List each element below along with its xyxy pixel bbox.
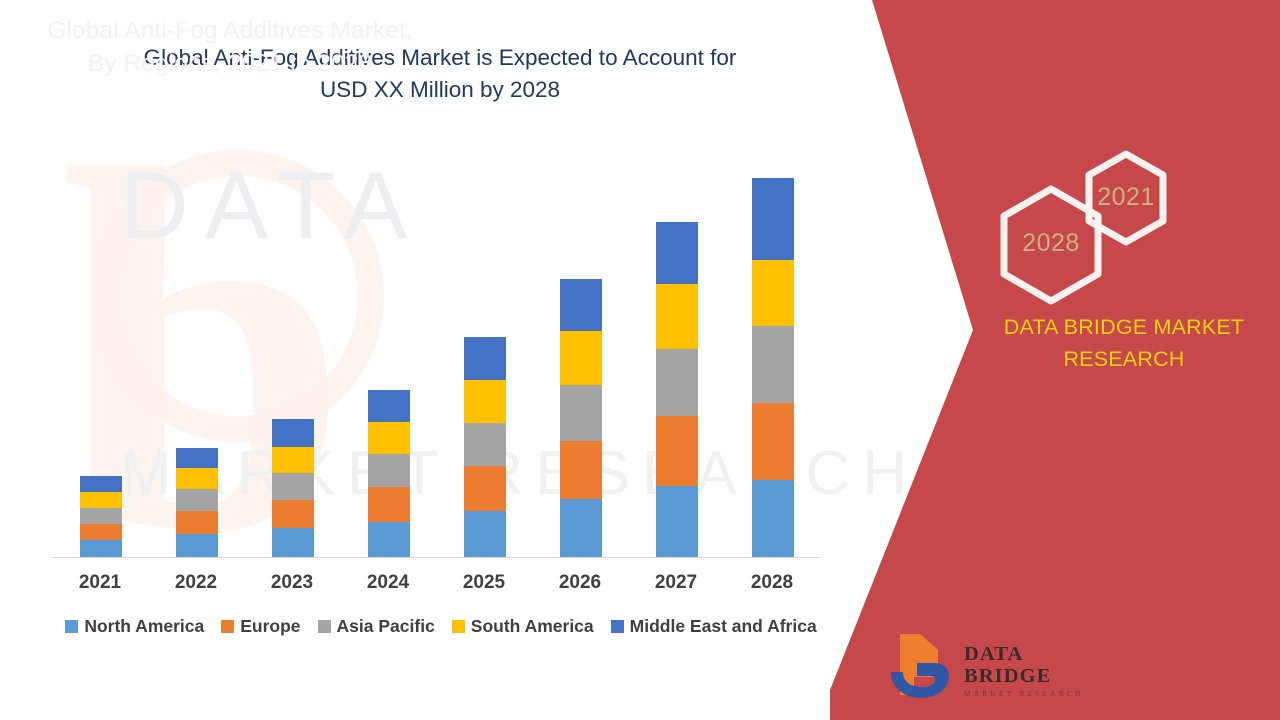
bar-segment[interactable] xyxy=(560,331,602,385)
bar-segment[interactable] xyxy=(272,528,314,557)
bar-segment[interactable] xyxy=(752,178,794,260)
bar-segment[interactable] xyxy=(656,416,698,486)
x-axis-label-2027: 2027 xyxy=(628,572,724,594)
panel-title: Global Anti-Fog Additives Market, By Reg… xyxy=(30,14,430,80)
bar-segment[interactable] xyxy=(368,487,410,521)
legend-label: Middle East and Africa xyxy=(630,616,817,637)
bar-segment[interactable] xyxy=(464,423,506,467)
bar-group-2021 xyxy=(52,140,148,557)
bar-segment[interactable] xyxy=(272,447,314,473)
x-axis-label-2024: 2024 xyxy=(340,572,436,594)
legend-label: Europe xyxy=(240,616,300,637)
x-axis-line xyxy=(52,557,820,558)
x-axis-label-2023: 2023 xyxy=(244,572,340,594)
legend-item[interactable]: Europe xyxy=(221,616,300,637)
logo-tagline: MARKET RESEARCH xyxy=(964,687,1104,700)
x-axis-label-2021: 2021 xyxy=(52,572,148,594)
bar-segment[interactable] xyxy=(656,222,698,284)
bar-segment[interactable] xyxy=(272,500,314,528)
stacked-bar[interactable] xyxy=(560,279,602,557)
chart-panel: b DATA MARKET RESEARCH Global Anti-Fog A… xyxy=(0,0,860,720)
bar-group-2028 xyxy=(724,140,820,557)
x-axis-label-2026: 2026 xyxy=(532,572,628,594)
legend-swatch-icon xyxy=(221,620,234,633)
stacked-bar-plot xyxy=(52,140,820,558)
bar-segment[interactable] xyxy=(560,499,602,557)
brand-name-line-2: RESEARCH xyxy=(968,343,1280,375)
legend-item[interactable]: South America xyxy=(452,616,594,637)
bar-segment[interactable] xyxy=(560,385,602,441)
bar-segment[interactable] xyxy=(752,260,794,326)
stacked-bar[interactable] xyxy=(272,419,314,557)
infographic-slide: b DATA MARKET RESEARCH Global Anti-Fog A… xyxy=(0,0,1280,720)
bar-group-2025 xyxy=(436,140,532,557)
stacked-bar[interactable] xyxy=(368,390,410,557)
legend-label: Asia Pacific xyxy=(337,616,435,637)
bar-segment[interactable] xyxy=(272,419,314,446)
bar-segment[interactable] xyxy=(176,511,218,534)
bar-segment[interactable] xyxy=(176,489,218,511)
hexagon-badge-2028: 2028 xyxy=(998,184,1104,306)
stacked-bar[interactable] xyxy=(656,222,698,557)
bar-segment[interactable] xyxy=(464,337,506,380)
bar-segment[interactable] xyxy=(80,540,122,557)
bar-segment[interactable] xyxy=(752,403,794,480)
bar-segment[interactable] xyxy=(80,524,122,541)
company-logo: DATA BRIDGE MARKET RESEARCH xyxy=(888,630,1103,702)
bar-segment[interactable] xyxy=(464,466,506,511)
logo-company-name: DATA BRIDGE xyxy=(964,643,1104,687)
bar-segment[interactable] xyxy=(368,454,410,487)
bar-segment[interactable] xyxy=(464,511,506,557)
bar-segment[interactable] xyxy=(272,473,314,500)
x-axis-label-2028: 2028 xyxy=(724,572,820,594)
bar-segment[interactable] xyxy=(752,326,794,403)
bar-segment[interactable] xyxy=(176,534,218,557)
bar-segment[interactable] xyxy=(80,476,122,493)
stacked-bar[interactable] xyxy=(752,178,794,557)
panel-title-line-2: By Regions, 2021 to 2028 xyxy=(30,47,430,80)
legend-swatch-icon xyxy=(611,620,624,633)
brand-name: DATA BRIDGE MARKET RESEARCH xyxy=(968,311,1280,375)
legend-swatch-icon xyxy=(65,620,78,633)
bar-group-2024 xyxy=(340,140,436,557)
bar-group-2026 xyxy=(532,140,628,557)
bar-group-2023 xyxy=(244,140,340,557)
bar-segment[interactable] xyxy=(368,422,410,454)
hexagon-label-2028: 2028 xyxy=(998,229,1104,258)
logo-text: DATA BRIDGE MARKET RESEARCH xyxy=(964,643,1104,700)
legend-item[interactable]: Middle East and Africa xyxy=(611,616,817,637)
legend-label: South America xyxy=(471,616,594,637)
legend-item[interactable]: North America xyxy=(65,616,204,637)
logo-mark-icon xyxy=(888,630,966,702)
bar-segment[interactable] xyxy=(656,284,698,349)
legend-item[interactable]: Asia Pacific xyxy=(318,616,435,637)
bar-segment[interactable] xyxy=(368,522,410,557)
legend-swatch-icon xyxy=(318,620,331,633)
brand-name-line-1: DATA BRIDGE MARKET xyxy=(968,311,1280,343)
bar-segment[interactable] xyxy=(80,508,122,524)
bar-segment[interactable] xyxy=(560,441,602,498)
legend-label: North America xyxy=(84,616,204,637)
bar-segment[interactable] xyxy=(560,279,602,331)
x-axis-tick-labels: 20212022202320242025202620272028 xyxy=(52,572,820,602)
chart-legend: North AmericaEuropeAsia PacificSouth Ame… xyxy=(46,616,836,637)
stacked-bar[interactable] xyxy=(80,476,122,557)
bar-group-2027 xyxy=(628,140,724,557)
bar-segment[interactable] xyxy=(176,448,218,469)
legend-swatch-icon xyxy=(452,620,465,633)
x-axis-label-2025: 2025 xyxy=(436,572,532,594)
bar-segment[interactable] xyxy=(656,486,698,557)
panel-title-line-1: Global Anti-Fog Additives Market, xyxy=(30,14,430,47)
stacked-bar[interactable] xyxy=(176,448,218,557)
bar-segment[interactable] xyxy=(176,468,218,489)
x-axis-label-2022: 2022 xyxy=(148,572,244,594)
bar-segment[interactable] xyxy=(464,380,506,423)
bar-segment[interactable] xyxy=(752,480,794,557)
stacked-bar[interactable] xyxy=(464,337,506,557)
bar-segment[interactable] xyxy=(368,390,410,421)
bar-segment[interactable] xyxy=(80,492,122,508)
bar-group-2022 xyxy=(148,140,244,557)
bar-segment[interactable] xyxy=(656,349,698,417)
